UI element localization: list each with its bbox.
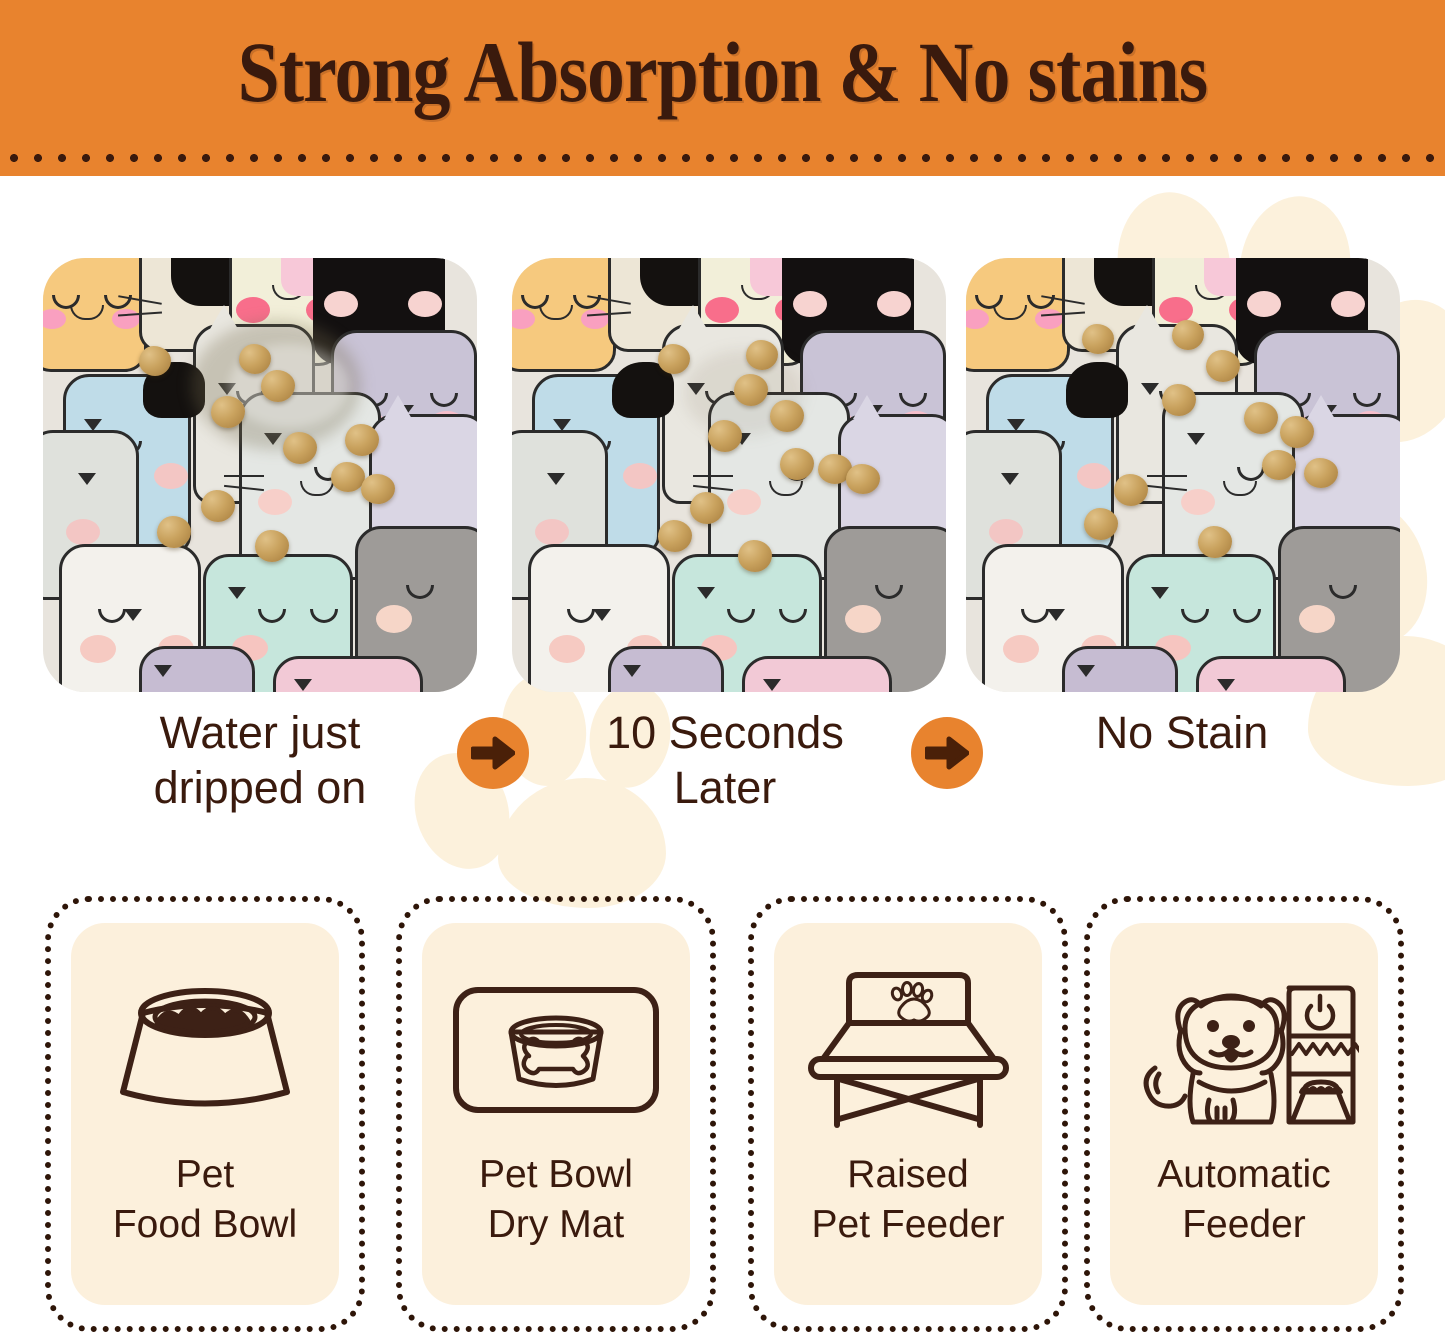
kibble-piece xyxy=(658,344,690,374)
kibble-piece xyxy=(1280,416,1314,448)
kibble-piece xyxy=(738,540,772,572)
kibble-piece xyxy=(846,464,880,494)
cat-mat-pattern xyxy=(512,258,946,692)
kibble-piece xyxy=(157,516,191,548)
kibble-piece xyxy=(211,396,245,428)
kibble-piece xyxy=(1262,450,1296,480)
use-case-label: Raised Pet Feeder xyxy=(774,1150,1042,1250)
pet-food-bowl-icon xyxy=(105,957,305,1142)
kibble-piece xyxy=(1244,402,1278,434)
caption-water-dripped: Water just dripped on xyxy=(40,706,480,816)
use-case-card-raised-pet-feeder[interactable]: Raised Pet Feeder xyxy=(748,896,1068,1332)
demo-image-water-dripped xyxy=(43,258,477,692)
cat-mat-pattern xyxy=(966,258,1400,692)
raised-pet-feeder-icon xyxy=(801,957,1016,1142)
arrow-right-icon xyxy=(457,717,529,789)
kibble-piece xyxy=(1084,508,1118,540)
cat-mat-pattern xyxy=(43,258,477,692)
kibble-piece xyxy=(1114,474,1148,506)
kibble-piece xyxy=(1304,458,1338,488)
use-case-card-pet-food-bowl[interactable]: Pet Food Bowl xyxy=(45,896,365,1332)
use-case-card-automatic-feeder[interactable]: Automatic Feeder xyxy=(1084,896,1404,1332)
kibble-piece xyxy=(770,400,804,432)
absorption-demo-row xyxy=(0,258,1445,694)
kibble-piece xyxy=(331,462,365,492)
caption-no-stain: No Stain xyxy=(962,706,1402,761)
kibble-piece xyxy=(734,374,768,406)
kibble-piece xyxy=(1162,384,1196,416)
dotted-divider xyxy=(0,150,1445,166)
kibble-piece xyxy=(139,346,171,376)
kibble-piece xyxy=(1172,320,1204,350)
kibble-piece xyxy=(345,424,379,456)
kibble-piece xyxy=(708,420,742,452)
kibble-piece xyxy=(1206,350,1240,382)
kibble-piece xyxy=(283,432,317,464)
demo-captions-row: Water just dripped on 10 Seconds Later N… xyxy=(0,706,1445,836)
kibble-piece xyxy=(239,344,271,374)
kibble-piece xyxy=(361,474,395,504)
pet-bowl-dry-mat-icon xyxy=(451,957,661,1142)
kibble-piece xyxy=(261,370,295,402)
kibble-piece xyxy=(746,340,778,370)
kibble-piece xyxy=(201,490,235,522)
kibble-piece xyxy=(658,520,692,552)
caption-ten-seconds: 10 Seconds Later xyxy=(505,706,945,816)
kibble-piece xyxy=(1082,324,1114,354)
demo-image-ten-seconds xyxy=(512,258,946,692)
use-case-label: Pet Food Bowl xyxy=(71,1150,339,1250)
kibble-piece xyxy=(690,492,724,524)
use-case-label: Pet Bowl Dry Mat xyxy=(422,1150,690,1250)
kibble-piece xyxy=(255,530,289,562)
page-title: Strong Absorption & No stains xyxy=(87,22,1359,122)
automatic-feeder-icon xyxy=(1129,957,1359,1142)
use-case-label: Automatic Feeder xyxy=(1110,1150,1378,1250)
kibble-piece xyxy=(1198,526,1232,558)
kibble-piece xyxy=(780,448,814,480)
demo-image-no-stain xyxy=(966,258,1400,692)
arrow-right-icon xyxy=(911,717,983,789)
use-cases-row: Pet Food Bowl Pet Bowl Dry Mat xyxy=(0,896,1445,1336)
use-case-card-pet-bowl-dry-mat[interactable]: Pet Bowl Dry Mat xyxy=(396,896,716,1332)
header-banner: Strong Absorption & No stains xyxy=(0,0,1445,176)
